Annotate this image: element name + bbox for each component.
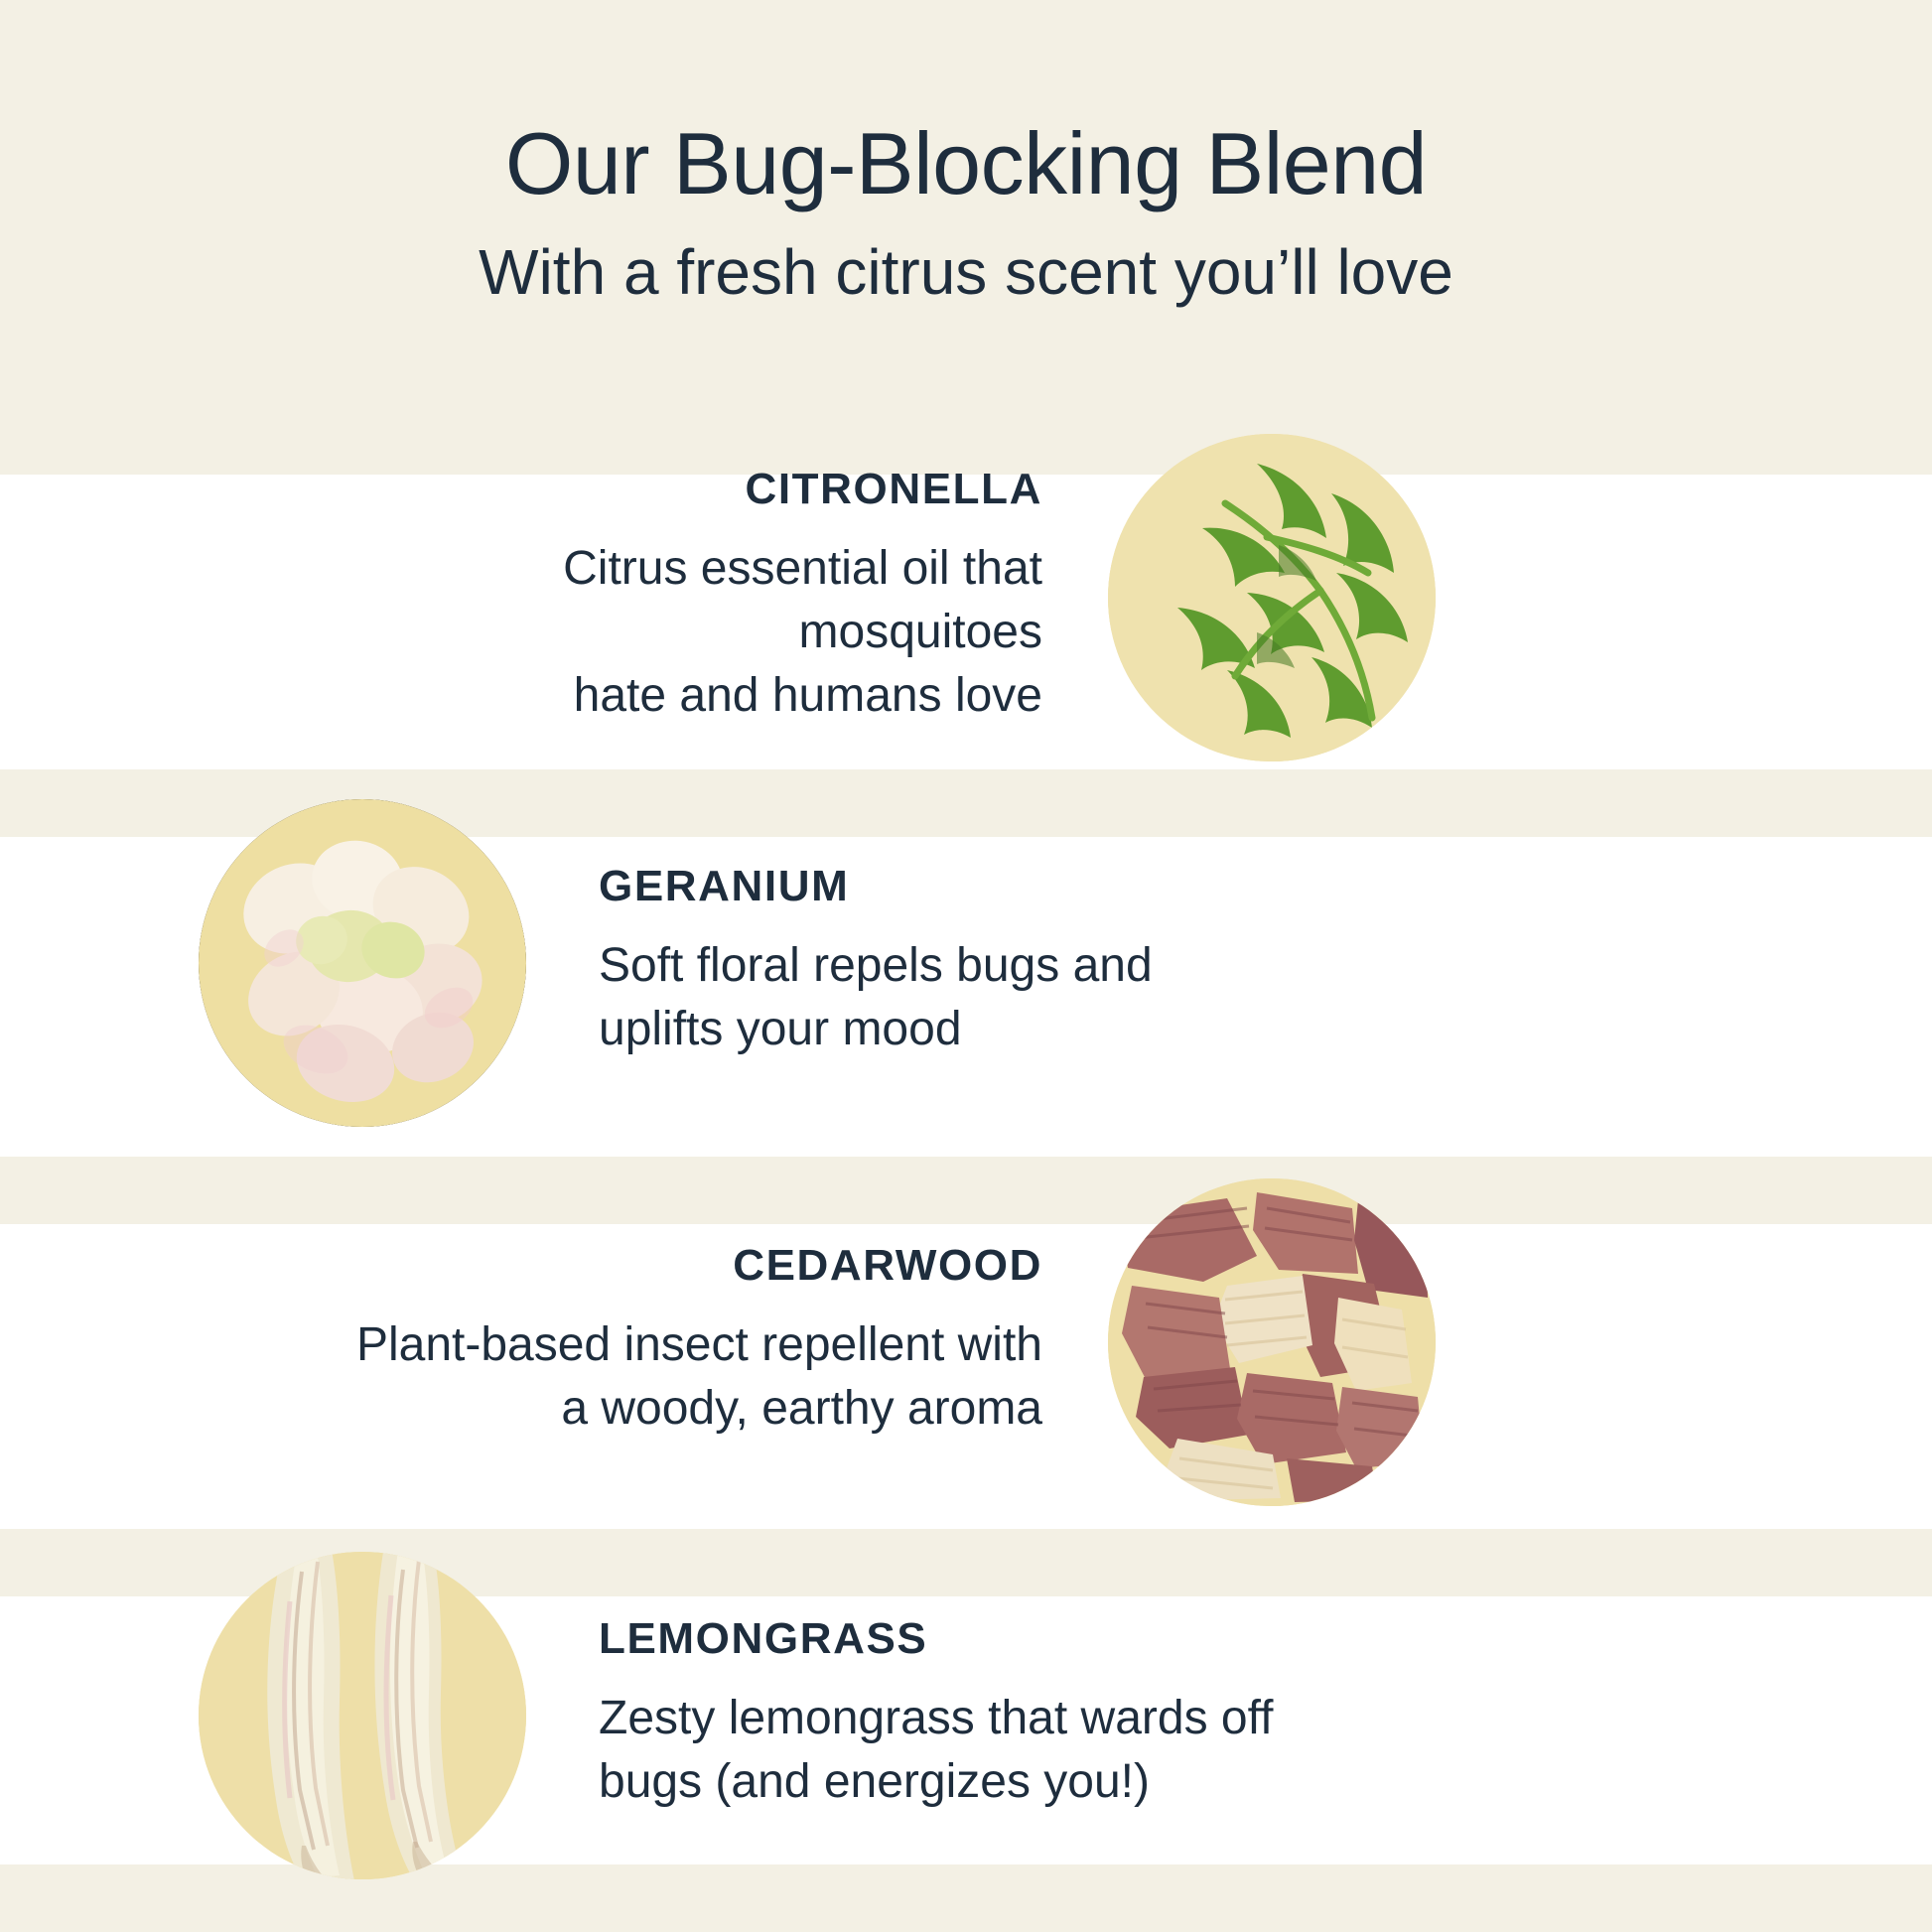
header: Our Bug-Blocking Blend With a fresh citr…	[0, 0, 1932, 475]
ingredient-text-lemongrass: LEMONGRASS Zesty lemongrass that wards o…	[599, 1617, 1294, 1815]
citronella-leaves-photo	[1108, 434, 1436, 761]
ingredient-row-geranium: GERANIUM Soft floral repels bugs and upl…	[0, 784, 1932, 1142]
ingredient-description-geranium: Soft floral repels bugs and uplifts your…	[599, 934, 1153, 1062]
ingredient-name-citronella: CITRONELLA	[745, 468, 1042, 511]
ingredient-name-geranium: GERANIUM	[599, 865, 849, 908]
ingredient-name-lemongrass: LEMONGRASS	[599, 1617, 927, 1661]
ingredient-row-lemongrass: LEMONGRASS Zesty lemongrass that wards o…	[0, 1537, 1932, 1894]
ingredient-description-lemongrass: Zesty lemongrass that wards off bugs (an…	[599, 1687, 1273, 1815]
ingredient-text-citronella: CITRONELLA Citrus essential oil that mos…	[347, 468, 1042, 729]
lemongrass-stalks-photo	[199, 1552, 526, 1879]
ingredient-text-cedarwood: CEDARWOOD Plant-based insect repellent w…	[347, 1244, 1042, 1442]
ingredient-row-cedarwood: CEDARWOOD Plant-based insect repellent w…	[0, 1164, 1932, 1521]
bug-blocking-blend-infographic: Our Bug-Blocking Blend With a fresh citr…	[0, 0, 1932, 1932]
ingredient-name-cedarwood: CEDARWOOD	[733, 1244, 1042, 1288]
ingredient-description-cedarwood: Plant-based insect repellent with a wood…	[356, 1313, 1042, 1442]
ingredient-text-geranium: GERANIUM Soft floral repels bugs and upl…	[599, 865, 1294, 1062]
ingredient-description-citronella: Citrus essential oil that mosquitoes hat…	[347, 537, 1042, 729]
geranium-petals-photo	[199, 799, 526, 1127]
page-subtitle: With a fresh citrus scent you’ll love	[479, 237, 1453, 307]
cedarwood-shavings-photo	[1108, 1178, 1436, 1506]
ingredient-row-citronella: CITRONELLA Citrus essential oil that mos…	[0, 419, 1932, 776]
page-title: Our Bug-Blocking Blend	[505, 117, 1427, 209]
